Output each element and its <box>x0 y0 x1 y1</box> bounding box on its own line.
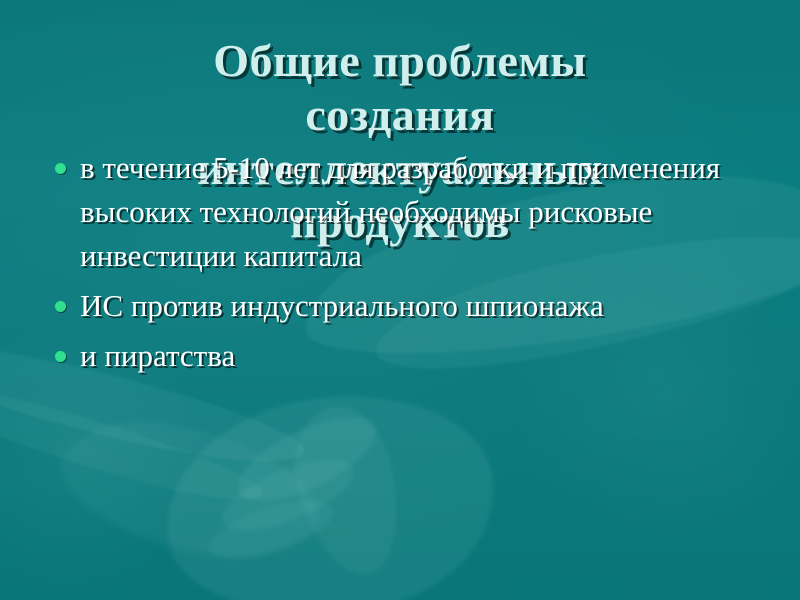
list-item-label: и пиратства <box>80 334 784 378</box>
bullet-dot-icon <box>55 301 66 312</box>
slide-canvas: Общие проблемы создания интеллектуальных… <box>0 0 800 600</box>
slide-body-list: в течение 5-10 лет для разработки и прим… <box>44 146 784 382</box>
background-arm-shape-left-lower <box>0 368 269 517</box>
list-item: в течение 5-10 лет для разработки и прим… <box>44 146 784 278</box>
list-item-label: ИС против индустриального шпионажа <box>80 284 784 328</box>
bullet-dot-icon <box>55 163 66 174</box>
slide-title-line-1: Общие проблемы <box>0 34 800 88</box>
background-knuckle-shape-2 <box>214 446 363 545</box>
list-item: ИС против индустриального шпионажа <box>44 284 784 328</box>
background-wrist-shape <box>48 393 332 587</box>
background-hand-shape <box>150 374 510 600</box>
background-knuckle-shape-1 <box>227 400 387 518</box>
slide-title-line-2: создания <box>0 88 800 142</box>
list-item-label: в течение 5-10 лет для разработки и прим… <box>80 146 784 278</box>
list-item: и пиратства <box>44 334 784 378</box>
background-thumb-shape <box>281 397 415 585</box>
bullet-dot-icon <box>55 351 66 362</box>
background-knuckle-shape-3 <box>202 489 339 571</box>
